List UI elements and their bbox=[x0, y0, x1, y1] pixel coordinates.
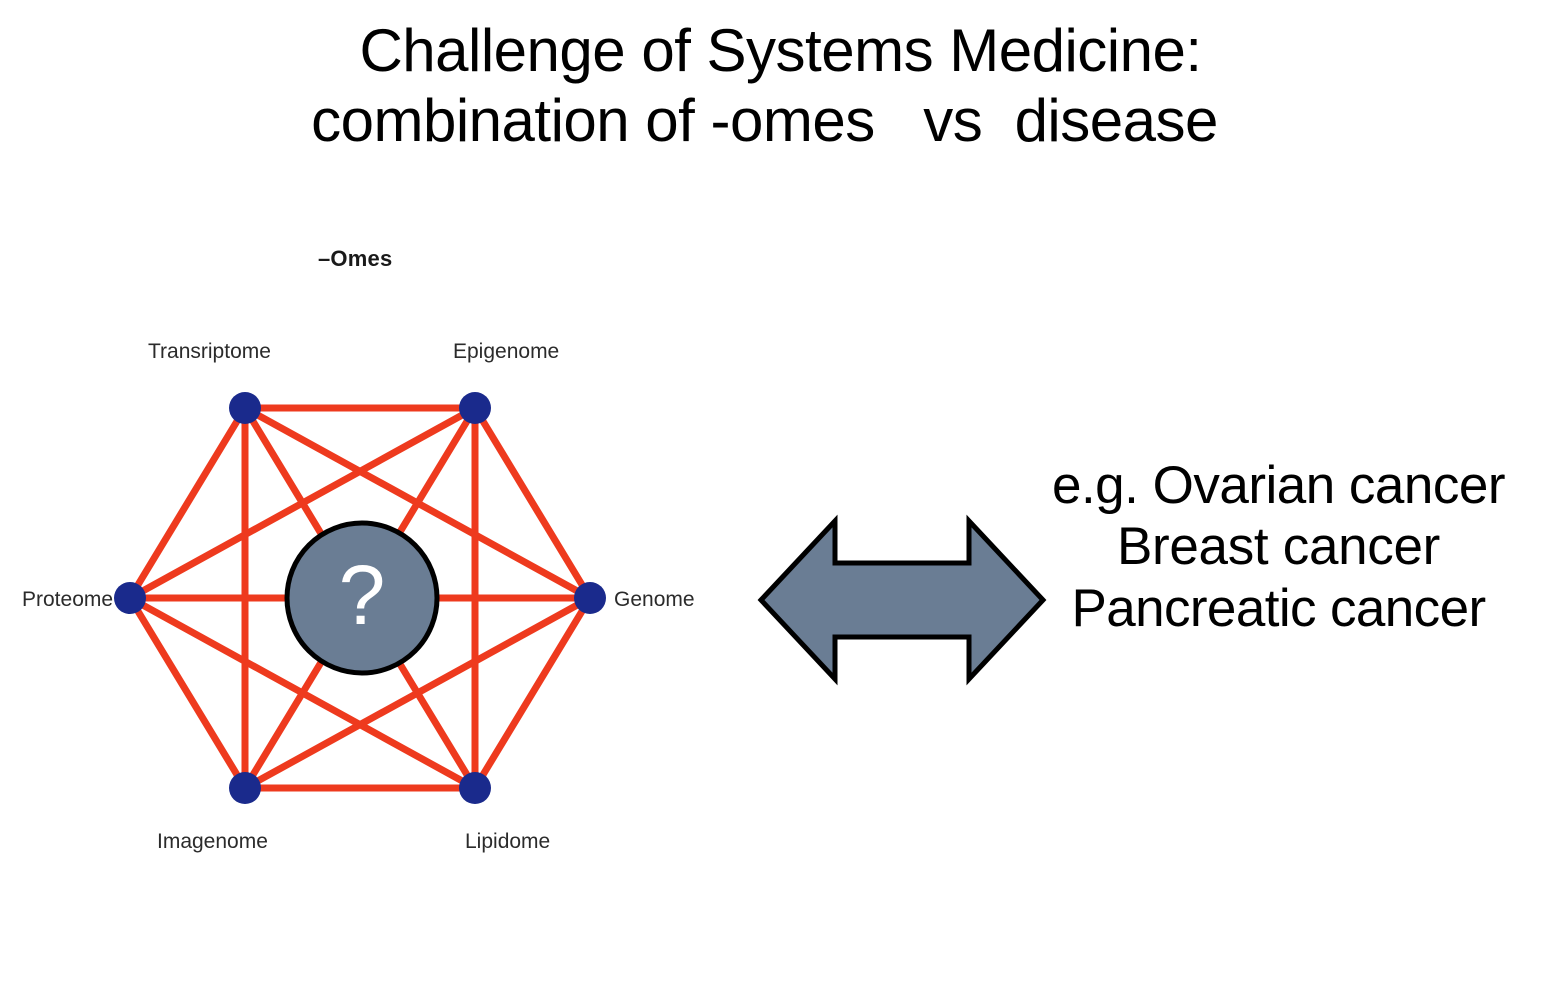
slide-title-line-1: Challenge of Systems Medicine: bbox=[14, 18, 1547, 84]
node-label-lipidome: Lipidome bbox=[465, 830, 550, 854]
node-label-imagenome: Imagenome bbox=[157, 830, 268, 854]
network-node-genome bbox=[574, 582, 606, 614]
disease-item-breast-cancer: Breast cancer bbox=[1010, 516, 1547, 577]
network-center-node: ? bbox=[287, 523, 437, 673]
omes-network-diagram: –Omes ? Transriptome Epigenome Proteome … bbox=[0, 228, 740, 878]
disease-item-ovarian-cancer: e.g. Ovarian cancer bbox=[1010, 455, 1547, 516]
node-label-epigenome: Epigenome bbox=[453, 340, 559, 364]
disease-item-pancreatic-cancer: Pancreatic cancer bbox=[1010, 578, 1547, 639]
network-node-imagenome bbox=[229, 772, 261, 804]
node-label-proteome: Proteome bbox=[22, 588, 113, 612]
double-headed-arrow-shape bbox=[761, 521, 1043, 679]
node-label-transcriptome: Transriptome bbox=[148, 340, 271, 364]
network-node-epigenome bbox=[459, 392, 491, 424]
network-node-lipidome bbox=[459, 772, 491, 804]
network-node-proteome bbox=[114, 582, 146, 614]
center-question-mark: ? bbox=[339, 548, 386, 642]
omes-network-graph: ? bbox=[0, 228, 740, 878]
relation-double-arrow bbox=[757, 505, 1047, 695]
disease-example-list: e.g. Ovarian cancer Breast cancer Pancre… bbox=[1010, 455, 1547, 639]
node-label-genome: Genome bbox=[614, 588, 695, 612]
double-headed-arrow-icon bbox=[757, 505, 1047, 695]
slide-title-line-2: combination of -omes vs disease bbox=[0, 88, 1547, 154]
slide-title: Challenge of Systems Medicine: combinati… bbox=[0, 18, 1547, 154]
network-node-transcriptome bbox=[229, 392, 261, 424]
